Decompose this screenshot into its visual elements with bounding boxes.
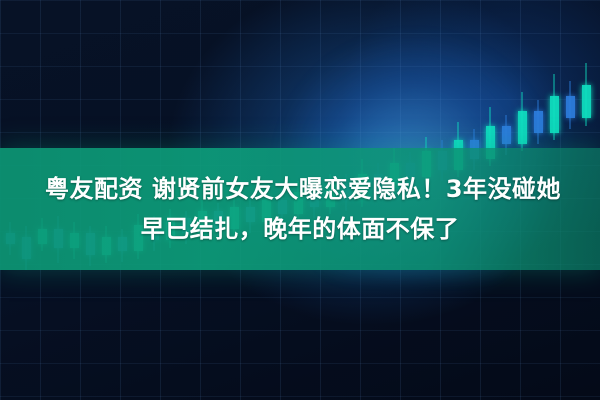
headline-line-1: 粤友配资 谢贤前女友大曝恋爱隐私！3年没碰她 <box>39 174 561 204</box>
candle-body <box>502 126 511 145</box>
headline-text: 粤友配资 谢贤前女友大曝恋爱隐私！3年没碰她 早已结扎，晚年的体面不保了 <box>0 148 600 270</box>
candlestick <box>550 74 559 141</box>
candle-body <box>534 111 543 133</box>
candle-body <box>566 96 575 118</box>
candlestick <box>582 63 591 126</box>
candlestick <box>566 81 575 129</box>
candlestick <box>534 100 543 144</box>
candle-body <box>518 111 527 144</box>
headline-line-2: 早已结扎，晚年的体面不保了 <box>141 214 460 244</box>
screenshot-root: 粤友配资 谢贤前女友大曝恋爱隐私！3年没碰她 早已结扎，晚年的体面不保了 <box>0 0 600 400</box>
candlestick <box>518 92 527 151</box>
candle-body <box>550 96 559 133</box>
candle-body <box>582 85 591 118</box>
